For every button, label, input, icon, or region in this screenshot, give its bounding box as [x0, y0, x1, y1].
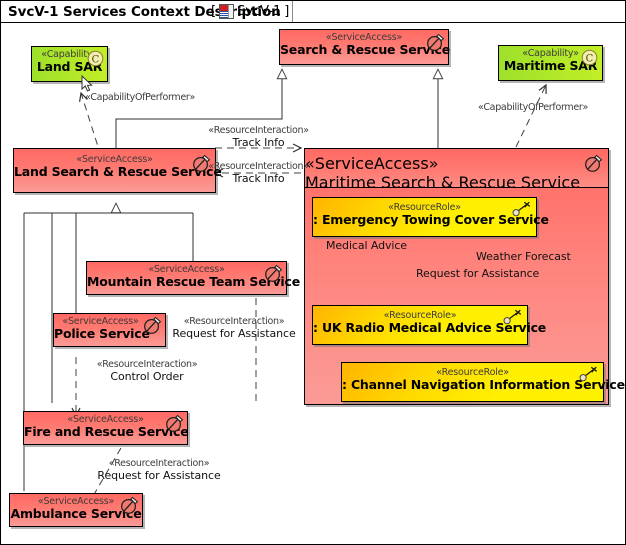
- edge-label-capability-of-performer-land: «CapabilityOfPerformer»: [85, 92, 195, 104]
- edge-label-control-order: «ResourceInteraction» Control Order: [85, 359, 209, 383]
- node-stereotype: «ResourceRole»: [313, 306, 527, 321]
- service-access-icon: [426, 33, 445, 52]
- node-name: Search & Rescue Service: [280, 43, 448, 57]
- node-fire-and-rescue-service[interactable]: «ServiceAccess» Fire and Rescue Service: [23, 411, 188, 445]
- service-access-icon: [264, 264, 283, 283]
- edge-text: Request for Assistance: [97, 470, 221, 482]
- edge-label-request-for-assistance-ambulance: «ResourceInteraction» Request for Assist…: [97, 458, 221, 482]
- node-name: : Emergency Towing Cover Service: [313, 213, 536, 227]
- resource-role-icon: [579, 366, 599, 383]
- edge-label-track-info-lower: «ResourceInteraction» Track Info: [206, 161, 311, 185]
- resource-role-icon: [512, 201, 532, 218]
- edge-text: Request for Assistance: [172, 328, 296, 340]
- resource-role-icon: [503, 309, 523, 326]
- node-mountain-rescue-team-service[interactable]: «ServiceAccess» Mountain Rescue Team Ser…: [86, 261, 287, 295]
- edge-text: Track Info: [206, 137, 311, 149]
- svg-text:C: C: [586, 53, 594, 64]
- edge-stereotype: «CapabilityOfPerformer»: [478, 102, 588, 114]
- edge-label-medical-advice: Medical Advice: [326, 240, 407, 252]
- node-uk-radio-medical-advice-service[interactable]: «ResourceRole» : UK Radio Medical Advice…: [312, 305, 528, 345]
- capability-of-performer-maritime-edge[interactable]: [516, 85, 546, 147]
- diagram-canvas: SvcV-1 Services Context Description [ Sv…: [0, 0, 626, 545]
- node-name: : Channel Navigation Information Service: [342, 378, 603, 392]
- edge-text: Control Order: [85, 371, 209, 383]
- diagram-icon: [219, 4, 234, 19]
- svg-text:C: C: [92, 54, 100, 65]
- node-name: : UK Radio Medical Advice Service: [313, 321, 527, 335]
- service-access-icon: [584, 154, 603, 173]
- edge-text: Request for Assistance: [416, 268, 539, 280]
- edge-label-request-for-assistance-radio: Request for Assistance: [416, 268, 539, 280]
- node-land-search-rescue-service[interactable]: «ServiceAccess» Land Search & Rescue Ser…: [13, 148, 216, 193]
- generalization-tree-land-children[interactable]: [24, 203, 193, 491]
- node-channel-navigation-information-service[interactable]: «ResourceRole» : Channel Navigation Info…: [341, 362, 604, 402]
- node-name: Maritime Search & Rescue Service: [305, 173, 608, 192]
- edge-label-request-for-assistance-mountain: «ResourceInteraction» Request for Assist…: [172, 316, 296, 340]
- node-land-sar-capability[interactable]: «Capability» Land SAR C: [31, 46, 108, 82]
- edge-text: Weather Forecast: [476, 251, 571, 263]
- service-access-icon: [120, 496, 139, 515]
- edge-text: Medical Advice: [326, 240, 407, 252]
- node-stereotype: «ServiceAccess»: [14, 149, 215, 165]
- node-emergency-towing-cover-service[interactable]: «ResourceRole» : Emergency Towing Cover …: [312, 197, 537, 237]
- tab-close-bracket: ]: [284, 4, 289, 19]
- node-stereotype: «ResourceRole»: [342, 363, 603, 378]
- node-name: Land Search & Rescue Service: [14, 165, 215, 179]
- capability-circle-icon: C: [87, 50, 104, 67]
- edge-text: Track Info: [206, 173, 311, 185]
- node-stereotype: «ServiceAccess»: [305, 149, 608, 173]
- diagram-tab[interactable]: [ SvcV-1 ]: [211, 1, 293, 22]
- node-maritime-sar-capability[interactable]: «Capability» Maritime SAR C: [498, 45, 603, 81]
- node-stereotype: «ResourceRole»: [313, 198, 536, 213]
- node-name: Fire and Rescue Service: [24, 425, 187, 439]
- capability-circle-icon: C: [581, 49, 598, 66]
- service-access-icon: [165, 414, 184, 433]
- diagram-titlebar: SvcV-1 Services Context Description [ Sv…: [1, 1, 626, 23]
- node-search-rescue-service[interactable]: «ServiceAccess» Search & Rescue Service: [279, 29, 449, 65]
- tab-open-bracket: [: [211, 4, 216, 19]
- edge-label-weather-forecast: Weather Forecast: [476, 251, 571, 263]
- mouse-cursor: [81, 75, 93, 93]
- edge-stereotype: «CapabilityOfPerformer»: [85, 92, 195, 104]
- edge-label-capability-of-performer-maritime: «CapabilityOfPerformer»: [478, 102, 588, 114]
- node-name: Mountain Rescue Team Service: [87, 275, 286, 289]
- tab-label: SvcV-1: [237, 4, 281, 19]
- node-ambulance-service[interactable]: «ServiceAccess» Ambulance Service: [9, 493, 143, 527]
- edge-label-track-info-upper: «ResourceInteraction» Track Info: [206, 125, 311, 149]
- maritime-header: «ServiceAccess» Maritime Search & Rescue…: [305, 149, 608, 188]
- service-access-icon: [143, 316, 162, 335]
- node-police-service[interactable]: «ServiceAccess» Police Service: [53, 313, 166, 347]
